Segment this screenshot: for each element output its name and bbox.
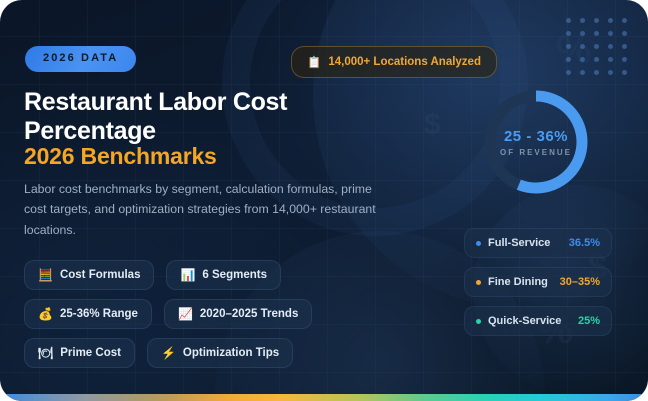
legend-label: Quick-Service (488, 315, 561, 327)
legend-color-dot (476, 280, 481, 285)
page-subtitle: 2026 Benchmarks (24, 144, 217, 169)
grid-dot (622, 44, 627, 49)
legend-label: Fine Dining (488, 276, 548, 288)
legend-row[interactable]: Fine Dining30–35% (464, 267, 612, 297)
feature-chip-list: 🧮Cost Formulas📊6 Segments💰25-36% Range📈2… (24, 260, 364, 368)
grid-dot (594, 70, 599, 75)
legend-value: 36.5% (569, 237, 600, 249)
bar-chart-icon: 📊 (180, 269, 195, 281)
feature-chip-label: 6 Segments (202, 269, 267, 281)
grid-dot (622, 31, 627, 36)
grid-dot (622, 57, 627, 62)
grid-dot (608, 44, 613, 49)
money-bag-icon: 💰 (38, 308, 53, 320)
data-year-badge: 2026 DATA (25, 46, 136, 72)
legend-label: Full-Service (488, 237, 550, 249)
abacus-icon: 🧮 (38, 269, 53, 281)
segment-legend: Full-Service36.5%Fine Dining30–35%Quick-… (464, 228, 612, 336)
grid-dot (566, 18, 571, 23)
grid-dot (580, 18, 585, 23)
grid-dot (594, 18, 599, 23)
donut-center-text: 25 - 36% OF REVENUE (480, 86, 592, 198)
grid-dot (622, 18, 627, 23)
feature-chip-label: 2020–2025 Trends (200, 308, 298, 320)
locations-analyzed-label: 14,000+ Locations Analyzed (328, 56, 481, 68)
dinner-plate-icon: 🍽 (38, 347, 53, 359)
grid-dot (608, 18, 613, 23)
grid-dot (608, 57, 613, 62)
legend-row[interactable]: Full-Service36.5% (464, 228, 612, 258)
feature-chip-label: Optimization Tips (183, 347, 279, 359)
donut-caption: OF REVENUE (500, 148, 572, 157)
feature-chip[interactable]: 🍽Prime Cost (24, 338, 135, 368)
feature-chip[interactable]: ⚡Optimization Tips (147, 338, 293, 368)
legend-color-dot (476, 319, 481, 324)
locations-analyzed-pill: 📋 14,000+ Locations Analyzed (291, 46, 497, 78)
trending-chart-icon: 📈 (178, 308, 193, 320)
percent-watermark-icon: % (556, 28, 592, 73)
grid-dot (608, 31, 613, 36)
feature-chip[interactable]: 📊6 Segments (166, 260, 281, 290)
feature-chip-label: 25-36% Range (60, 308, 138, 320)
infographic-card: $ $ % % 2026 DATA 📋 14,000+ Locations An… (0, 0, 648, 401)
legend-value: 30–35% (560, 276, 600, 288)
grid-dot (608, 70, 613, 75)
legend-color-dot (476, 241, 481, 246)
lightning-bolt-icon: ⚡ (161, 347, 176, 359)
dollar-watermark-icon: $ (424, 108, 441, 142)
page-description: Labor cost benchmarks by segment, calcul… (24, 179, 376, 240)
donut-value: 25 - 36% (504, 128, 568, 145)
grid-dot (594, 31, 599, 36)
legend-value: 25% (578, 315, 600, 327)
legend-row[interactable]: Quick-Service25% (464, 306, 612, 336)
feature-chip-label: Cost Formulas (60, 269, 141, 281)
bottom-gradient-bar (0, 394, 648, 401)
page-title: Restaurant Labor Cost Percentage (24, 88, 354, 146)
grid-dot (594, 57, 599, 62)
feature-chip[interactable]: 💰25-36% Range (24, 299, 152, 329)
feature-chip-label: Prime Cost (60, 347, 121, 359)
revenue-donut-chart: 25 - 36% OF REVENUE (480, 86, 592, 198)
grid-dot (594, 44, 599, 49)
clipboard-icon: 📋 (307, 55, 321, 69)
feature-chip[interactable]: 🧮Cost Formulas (24, 260, 154, 290)
grid-dot (622, 70, 627, 75)
feature-chip[interactable]: 📈2020–2025 Trends (164, 299, 312, 329)
